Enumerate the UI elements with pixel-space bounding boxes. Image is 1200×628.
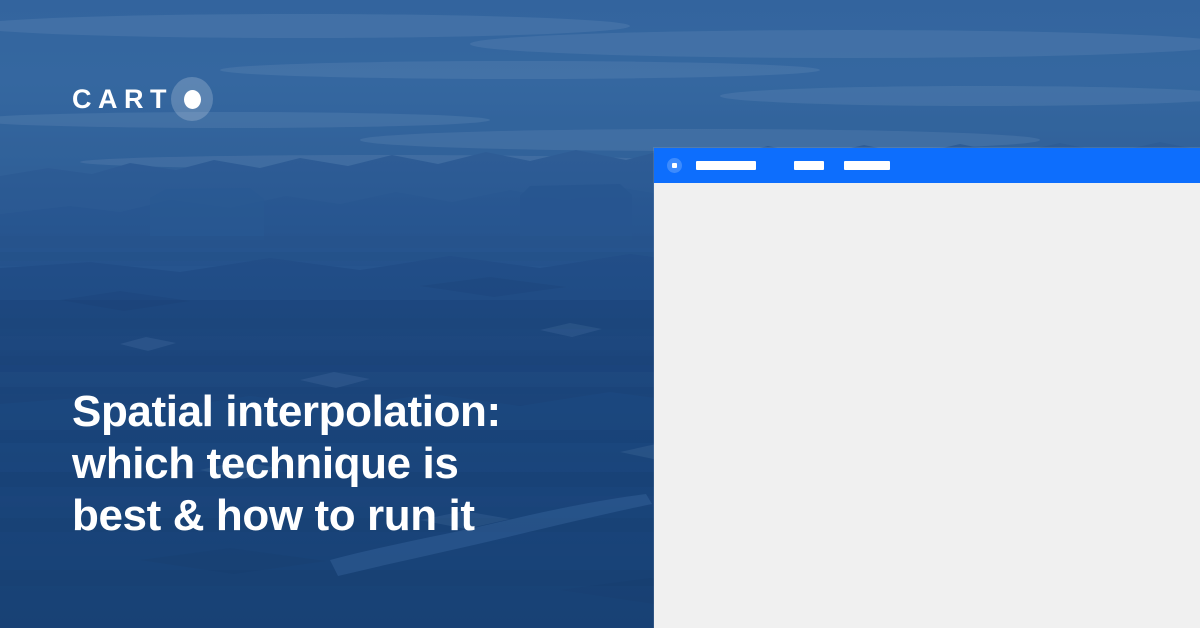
page-title-line-2: which technique is: [72, 438, 632, 490]
page-title-line-1: Spatial interpolation:: [72, 386, 632, 438]
nav-item-placeholder-3[interactable]: [844, 161, 890, 170]
app-logo-icon[interactable]: [667, 158, 682, 173]
carto-circle-dot-icon: [171, 77, 213, 121]
nav-item-placeholder-1[interactable]: [696, 161, 756, 170]
app-logo-dot: [672, 163, 677, 168]
map-application-panel[interactable]: [654, 148, 1200, 628]
logo-dot: [184, 90, 201, 109]
carto-logo[interactable]: CART: [72, 77, 213, 121]
page-title: Spatial interpolation: which technique i…: [72, 386, 632, 542]
page-title-line-3: best & how to run it: [72, 490, 632, 542]
map-app-header: [654, 148, 1200, 183]
app-navbar: [696, 161, 890, 170]
map-canvas[interactable]: [654, 183, 1200, 628]
nav-item-placeholder-2[interactable]: [794, 161, 824, 170]
carto-wordmark: CART: [72, 86, 173, 113]
hexagon-interpolation-layer: [654, 183, 1200, 628]
